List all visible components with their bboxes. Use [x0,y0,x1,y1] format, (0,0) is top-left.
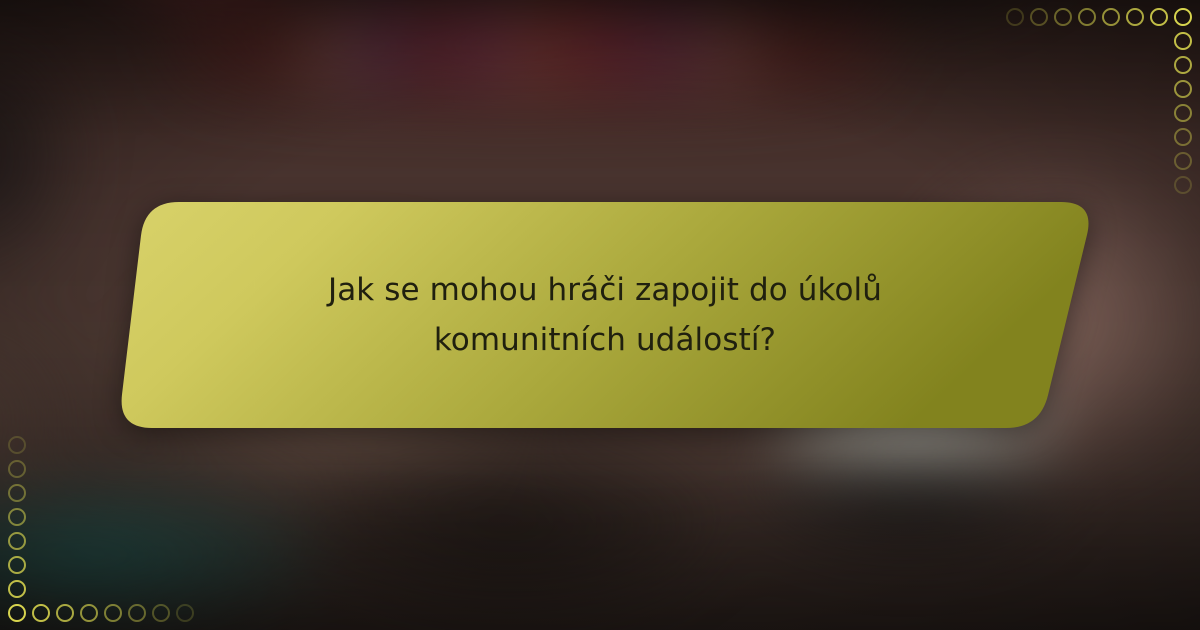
card-content: Jak se mohou hráči zapojit do úkolů komu… [100,190,1110,440]
question-card-graphic: Jak se mohou hráči zapojit do úkolů komu… [0,0,1200,630]
question-text: Jak se mohou hráči zapojit do úkolů komu… [275,265,935,365]
question-card: Jak se mohou hráči zapojit do úkolů komu… [100,190,1110,440]
